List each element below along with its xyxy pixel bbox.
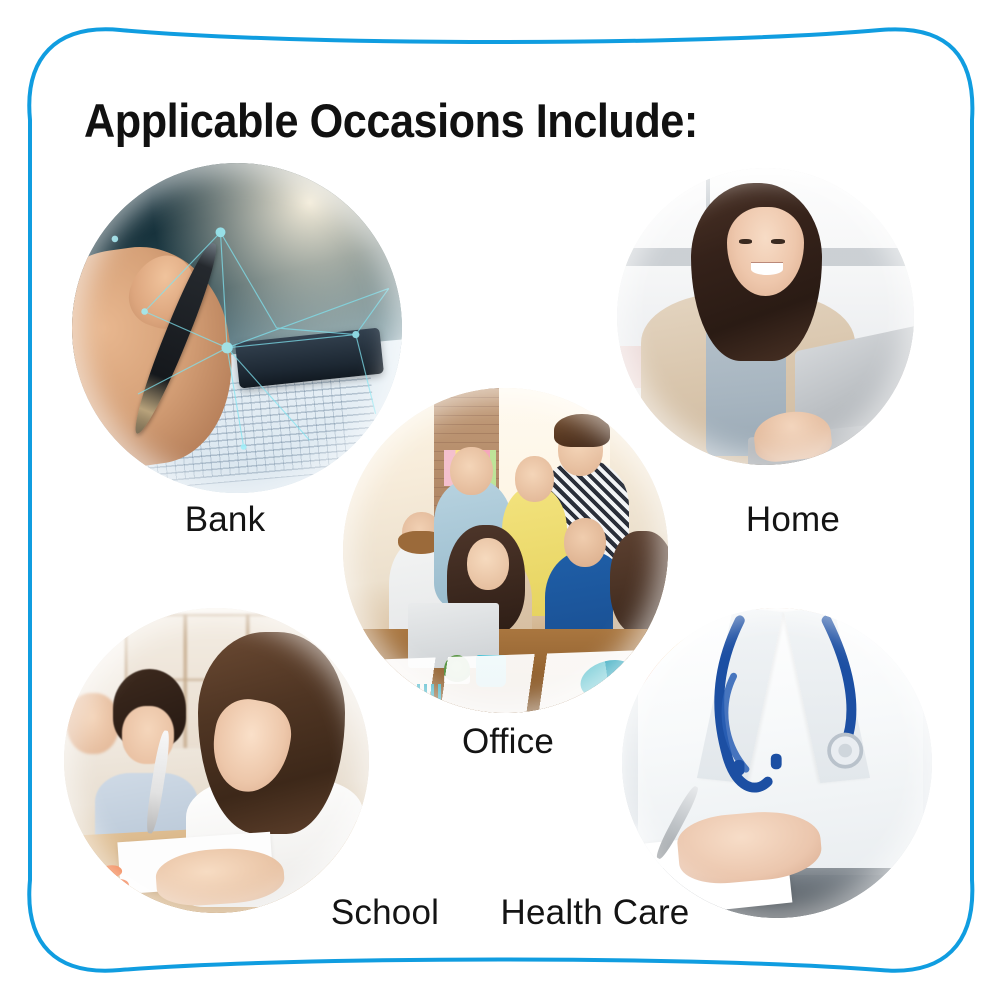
bar-chart-printout <box>389 684 441 707</box>
colleague-head-2 <box>450 447 492 496</box>
colleague-head-5 <box>564 518 606 567</box>
occasion-image-health-care <box>622 608 932 918</box>
occasion-caption-health-care: Health Care <box>501 893 690 933</box>
occasion-caption-school: School <box>331 893 439 933</box>
occasion-caption-office: Office <box>462 722 554 762</box>
occasion-image-office <box>343 388 668 713</box>
health-care-scene <box>622 608 932 918</box>
eye-right <box>771 239 784 244</box>
occasion-image-school <box>64 608 369 913</box>
foam-letters-icon <box>76 849 161 892</box>
child-3-background <box>67 693 119 754</box>
colleague-hair-3 <box>554 414 609 447</box>
poster-canvas: Applicable Occasions Include: <box>0 0 1000 1000</box>
page-title: Applicable Occasions Include: <box>84 96 698 145</box>
office-scene <box>343 388 668 713</box>
colleague-head-4 <box>515 456 554 502</box>
smile <box>751 263 784 275</box>
eye-left <box>739 239 752 244</box>
occasion-caption-bank: Bank <box>185 500 266 540</box>
occasion-caption-home: Home <box>746 500 840 540</box>
school-scene <box>64 608 369 913</box>
colleague-head-7 <box>467 538 509 590</box>
